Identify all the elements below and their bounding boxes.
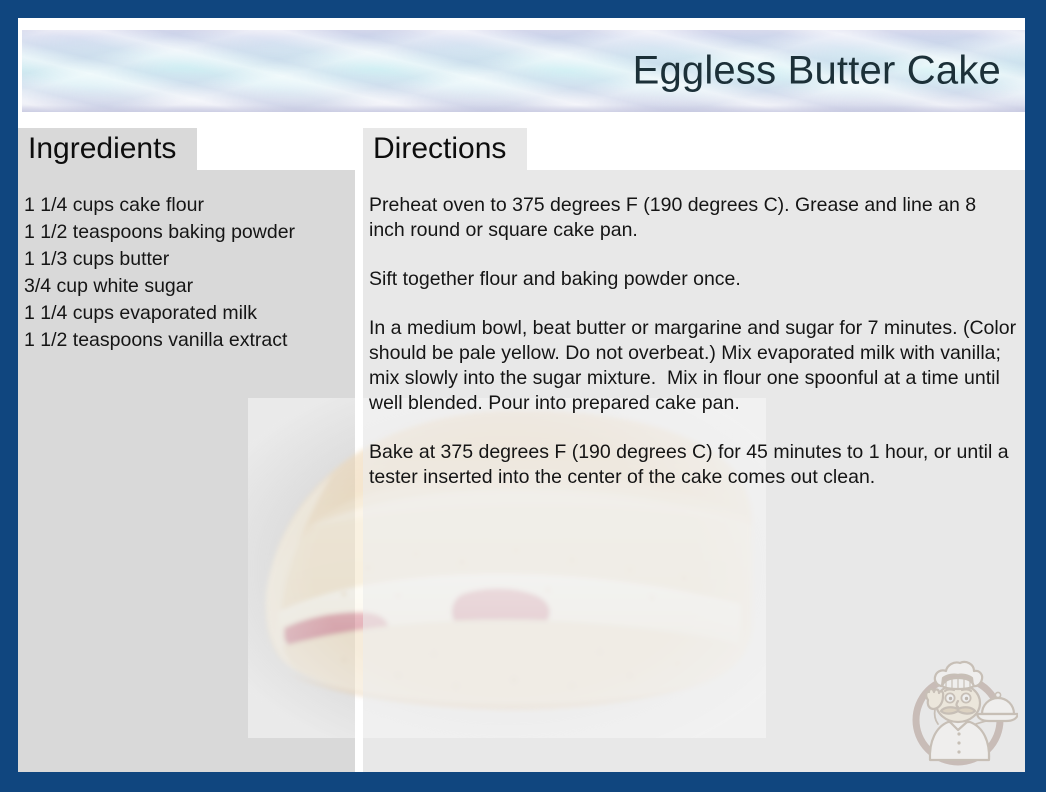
direction-step: Sift together flour and baking powder on… [369,267,1017,292]
list-item: 1 1/4 cups evaporated milk [24,300,344,327]
header-banner: Eggless Butter Cake [22,30,1025,112]
directions-body: Preheat oven to 375 degrees F (190 degre… [369,193,1017,490]
list-item: 1 1/4 cups cake flour [24,192,344,219]
recipe-card: Eggless Butter Cake 0 [0,0,1046,792]
ingredients-list: 1 1/4 cups cake flour 1 1/2 teaspoons ba… [24,192,344,354]
list-item: 1 1/2 teaspoons baking powder [24,219,344,246]
direction-step: Preheat oven to 375 degrees F (190 degre… [369,193,1017,243]
directions-heading: Directions [363,128,527,170]
border-left [0,0,18,792]
list-item: 1 1/2 teaspoons vanilla extract [24,327,344,354]
ingredients-heading: Ingredients [18,128,197,170]
list-item: 1 1/3 cups butter [24,246,344,273]
direction-step: Bake at 375 degrees F (190 degrees C) fo… [369,440,1017,490]
direction-step: In a medium bowl, beat butter or margari… [369,316,1017,416]
border-top [0,0,1046,18]
border-bottom [0,772,1046,792]
page-title: Eggless Butter Cake [633,49,1001,94]
list-item: 3/4 cup white sugar [24,273,344,300]
border-right [1025,0,1046,792]
